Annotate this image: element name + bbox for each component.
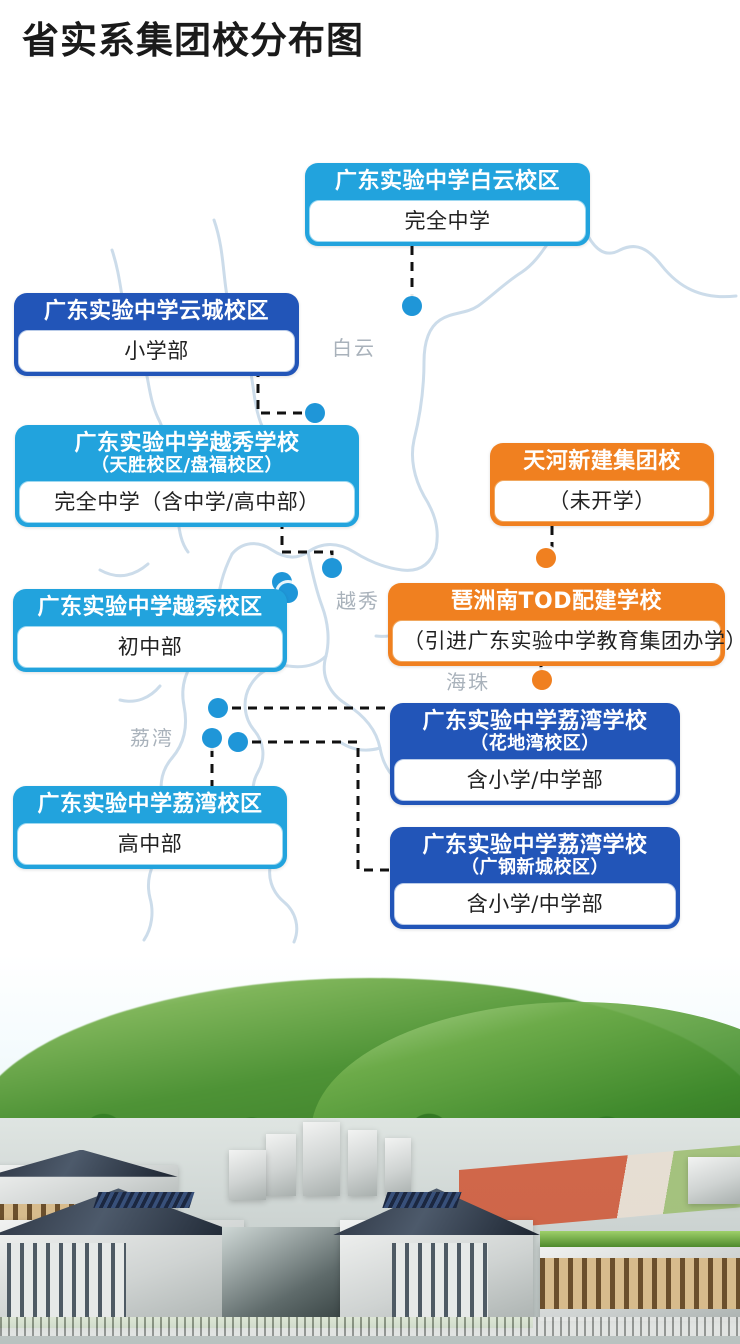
card-title: 广东实验中学越秀校区 xyxy=(17,593,283,626)
card-title: 天河新建集团校 xyxy=(494,447,710,480)
photo-building-distant-3 xyxy=(348,1130,378,1196)
photo-building-distant-1 xyxy=(266,1134,296,1196)
card-title: 广东实验中学越秀学校 （天胜校区/盘福校区） xyxy=(19,429,355,481)
map-dot-baiyun[interactable] xyxy=(402,296,422,316)
card-title: 琶洲南TOD配建学校 xyxy=(392,587,721,620)
photo-facade-fins-right xyxy=(540,1258,740,1309)
card-liwan-guanggang[interactable]: 广东实验中学荔湾学校 （广钢新城校区） 含小学/中学部 xyxy=(390,827,680,929)
district-label-liwan: 荔湾 xyxy=(130,722,174,751)
card-body: 高中部 xyxy=(17,823,283,865)
page-title: 省实系集团校分布图 xyxy=(22,20,364,63)
photo-building-distant-6 xyxy=(688,1157,740,1204)
photo-facade-fins-main-right xyxy=(392,1243,488,1321)
photo-building-distant-4 xyxy=(385,1138,411,1196)
card-body: 完全中学 xyxy=(309,200,586,242)
card-yuncheng-campus[interactable]: 广东实验中学云城校区 小学部 xyxy=(14,293,299,376)
card-liwan-campus[interactable]: 广东实验中学荔湾校区 高中部 xyxy=(13,786,287,869)
photo-courtyard xyxy=(222,1227,355,1328)
map-dot-yuncheng[interactable] xyxy=(305,403,325,423)
district-label-baiyun: 白云 xyxy=(332,332,376,361)
card-body: （未开学） xyxy=(494,480,710,522)
district-label-haizhu: 海珠 xyxy=(446,666,490,695)
card-body: 含小学/中学部 xyxy=(394,883,676,925)
card-baiyun-campus[interactable]: 广东实验中学白云校区 完全中学 xyxy=(305,163,590,246)
map-dot-huadiwan[interactable] xyxy=(208,698,228,718)
card-pazhou-tod[interactable]: 琶洲南TOD配建学校 （引进广东实验中学教育集团办学） xyxy=(388,583,725,666)
map-stage: 白云 天河 越秀 海珠 荔湾 广东实验中学白云校区 完全中学 广东实验中学云城校… xyxy=(0,100,740,955)
district-label-yuexiu: 越秀 xyxy=(336,585,380,614)
photo-green-roof-right xyxy=(540,1231,740,1247)
card-yuexiu-school[interactable]: 广东实验中学越秀学校 （天胜校区/盘福校区） 完全中学（含中学/高中部） xyxy=(15,425,359,527)
map-dot-tianhe-new[interactable] xyxy=(536,548,556,568)
card-title: 广东实验中学荔湾学校 （花地湾校区） xyxy=(394,707,676,759)
card-title: 广东实验中学白云校区 xyxy=(309,167,586,200)
card-body: 小学部 xyxy=(18,330,295,372)
map-dot-pazhou-tod[interactable] xyxy=(532,670,552,690)
card-body: 初中部 xyxy=(17,626,283,668)
photo-solar-panels-left xyxy=(94,1192,195,1208)
photo-facade-fins-main-left xyxy=(7,1243,125,1321)
card-liwan-huadiwan[interactable]: 广东实验中学荔湾学校 （花地湾校区） 含小学/中学部 xyxy=(390,703,680,805)
infographic-root: 省实系集团校分布图 xyxy=(0,0,740,1344)
photo-solar-panels-right xyxy=(382,1192,461,1208)
card-title: 广东实验中学荔湾校区 xyxy=(17,790,283,823)
card-body: 含小学/中学部 xyxy=(394,759,676,801)
card-body: （引进广东实验中学教育集团办学） xyxy=(392,620,721,662)
map-dot-guanggang[interactable] xyxy=(228,732,248,752)
photo-building-distant-2 xyxy=(303,1122,340,1196)
photo-perimeter-fence xyxy=(0,1317,740,1336)
photo-building-distant-5 xyxy=(229,1150,266,1201)
campus-aerial-photo xyxy=(0,955,740,1344)
map-dot-liwan-campus[interactable] xyxy=(202,728,222,748)
card-title: 广东实验中学荔湾学校 （广钢新城校区） xyxy=(394,831,676,883)
map-dot-yuexiu-school[interactable] xyxy=(322,558,342,578)
card-body: 完全中学（含中学/高中部） xyxy=(19,481,355,523)
card-yuexiu-campus[interactable]: 广东实验中学越秀校区 初中部 xyxy=(13,589,287,672)
card-title: 广东实验中学云城校区 xyxy=(18,297,295,330)
card-tianhe-new[interactable]: 天河新建集团校 （未开学） xyxy=(490,443,714,526)
